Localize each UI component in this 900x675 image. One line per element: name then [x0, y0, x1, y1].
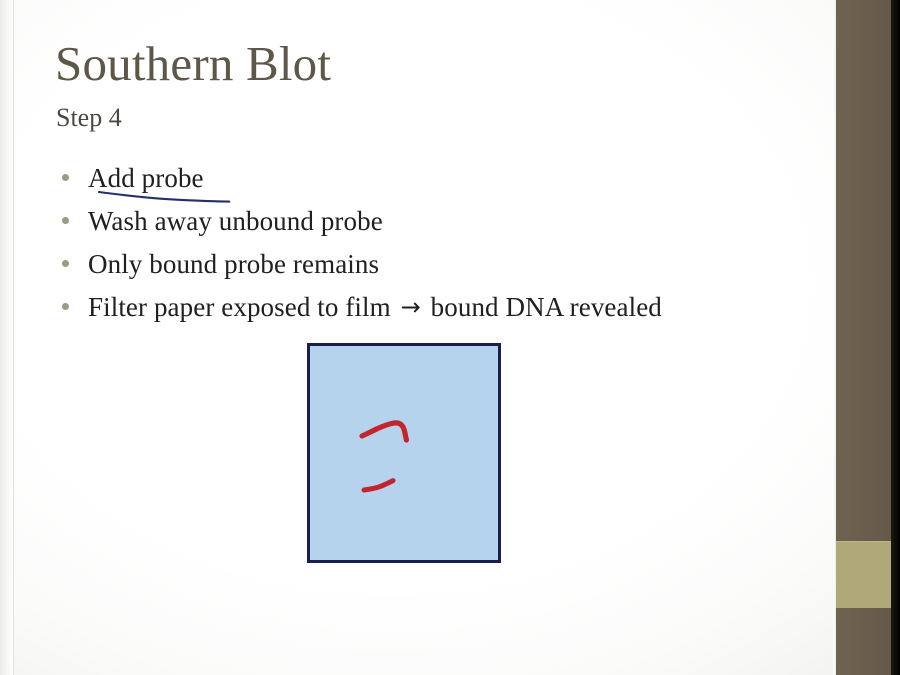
- bullet-list: Add probe Wash away unbound probe Only b…: [62, 163, 802, 335]
- list-item-text-after-arrow: bound DNA revealed: [424, 292, 662, 322]
- membrane-figure: [307, 343, 501, 563]
- list-item-label: Only bound probe remains: [88, 249, 379, 280]
- bullet-dot-icon: [62, 260, 69, 267]
- bullet-dot-icon: [62, 174, 69, 181]
- list-item: Filter paper exposed to film → bound DNA…: [62, 292, 802, 335]
- bullet-dot-icon: [62, 217, 69, 224]
- list-item: Wash away unbound probe: [62, 206, 802, 249]
- list-item: Add probe: [62, 163, 802, 206]
- bullet-dot-icon: [62, 303, 69, 310]
- left-edge-shading: [0, 0, 14, 675]
- list-item-label: Filter paper exposed to film → bound DNA…: [88, 292, 662, 323]
- page-title: Southern Blot: [55, 38, 331, 89]
- sidebar-dark-edge: [891, 0, 900, 675]
- list-item-label: Wash away unbound probe: [88, 206, 383, 237]
- left-edge-line: [13, 0, 14, 675]
- list-item-label: Add probe: [88, 163, 204, 194]
- right-arrow-icon: →: [398, 293, 424, 321]
- slide: Southern Blot Step 4 Add probe Wash away…: [0, 0, 900, 675]
- list-item-text-before-arrow: Filter paper exposed to film: [88, 292, 398, 322]
- sidebar-accent-block: [836, 541, 891, 608]
- sidebar-decoration: [833, 0, 900, 675]
- list-item: Only bound probe remains: [62, 249, 802, 292]
- page-subtitle: Step 4: [56, 103, 122, 133]
- slide-canvas: [0, 0, 833, 675]
